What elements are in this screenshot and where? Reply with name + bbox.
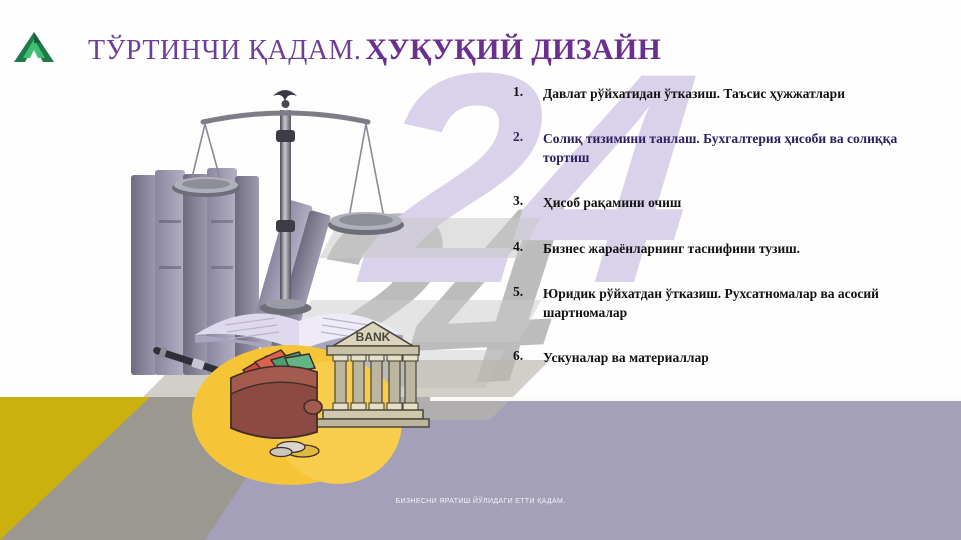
list-item[interactable]: 5. Юридик рўйхатдан ўтказиш. Рухсатномал… [513, 284, 931, 322]
title-part-one: ТЎРТИНЧИ ҚАДАМ. [88, 35, 361, 66]
list-item[interactable]: 3. Ҳисоб рақамини очиш [513, 193, 931, 212]
green-triangle-logo[interactable] [12, 30, 56, 64]
bank-label: BANK [356, 330, 391, 344]
band-top-edge [430, 397, 961, 401]
list-item[interactable]: 6. Ускуналар ва материаллар [513, 348, 931, 367]
list-item-label: Ҳисоб рақамини очиш [543, 193, 681, 212]
list-item[interactable]: 2. Солиқ тизимини танлаш. Бухгалтерия ҳи… [513, 129, 931, 167]
list-item-number: 2. [513, 129, 543, 145]
steps-list: 1. Давлат рўйхатидан ўтказиш. Таъсис ҳуж… [513, 84, 931, 393]
page-title: ТЎРТИНЧИ ҚАДАМ. ҲУҚУҚИЙ ДИЗАЙН [88, 33, 661, 67]
list-item-number: 6. [513, 348, 543, 364]
list-item-label: Юридик рўйхатдан ўтказиш. Рухсатномалар … [543, 284, 931, 322]
list-item-number: 4. [513, 239, 543, 255]
list-item-number: 3. [513, 193, 543, 209]
list-item-label: Ускуналар ва материаллар [543, 348, 709, 367]
list-item[interactable]: 4. Бизнес жараёнларнинг таснифини тузиш. [513, 239, 931, 258]
list-item-label: Бизнес жараёнларнинг таснифини тузиш. [543, 239, 800, 258]
list-item-label: Давлат рўйхатидан ўтказиш. Таъсис ҳужжат… [543, 84, 845, 103]
list-item-label: Солиқ тизимини танлаш. Бухгалтерия ҳисоб… [543, 129, 931, 167]
slide-canvas: 24 24 ТЎРТИНЧИ ҚАДАМ. ҲУҚУҚИЙ ДИЗАЙН [0, 0, 961, 540]
slide-footer: БИЗНЕСНИ ЯРАТИШ ЙЎЛИДАГИ ЕТТИ ҚАДАМ. [0, 498, 961, 505]
list-item[interactable]: 1. Давлат рўйхатидан ўтказиш. Таъсис ҳуж… [513, 84, 931, 103]
title-part-two: ҲУҚУҚИЙ ДИЗАЙН [365, 33, 661, 66]
list-item-number: 5. [513, 284, 543, 300]
legal-illustration: BANK [95, 70, 505, 500]
list-item-number: 1. [513, 84, 543, 100]
